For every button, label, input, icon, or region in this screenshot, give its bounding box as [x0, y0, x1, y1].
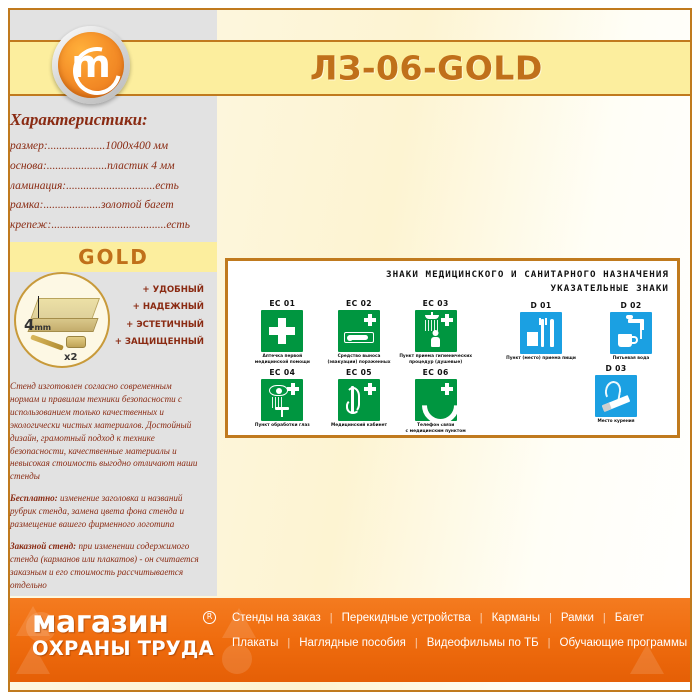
characteristics-row-size: размер:....................1000х400 мм [10, 137, 200, 157]
sign-code: EC 06 [397, 368, 474, 377]
feature-item-1: + УДОБНЫЙ [112, 282, 204, 299]
frame-illustration: 4mm x2 [14, 272, 110, 368]
sign-code: EC 01 [244, 299, 321, 308]
nav-separator: | [287, 637, 290, 649]
sign-label: Место курения [571, 419, 661, 425]
description-paragraph-1: Стенд изготовлен согласно современным но… [10, 380, 202, 483]
thickness-tick-icon [38, 296, 39, 318]
shower-icon [415, 310, 457, 352]
sign-code: D 01 [496, 301, 586, 310]
registered-mark-icon: R [203, 611, 216, 624]
sign-code: EC 05 [321, 368, 398, 377]
features-list: + УДОБНЫЙ + НАДЕЖНЫЙ + ЭСТЕТИЧНЫЙ + ЗАЩИ… [112, 282, 204, 351]
sign-label: Пункт обработки глаз [244, 423, 321, 429]
nav-separator: | [549, 612, 552, 624]
sign-d03: D 03 Место курения [571, 364, 661, 425]
page-title: ЛЗ-06-GOLD [310, 49, 543, 88]
sign-label: Пункт (место) приема пищи [496, 356, 586, 362]
sign-d02: D 02 Питьевая вода [586, 301, 676, 362]
sign-code: D 03 [571, 364, 661, 373]
sign-label: Телефон связи с медицинским пунктом [397, 423, 474, 434]
shop-logo-line1: магазин [32, 609, 222, 638]
sign-heading-line1: ЗНАКИ МЕДИЦИНСКОГО И САНИТАРНОГО НАЗНАЧЕ… [386, 268, 669, 282]
cigarette-icon [595, 375, 637, 417]
phone-handset-icon [415, 379, 457, 421]
gold-band-label: GOLD [78, 245, 149, 269]
stretcher-icon [338, 310, 380, 352]
site-footer: магазин ОХРАНЫ ТРУДА R Стенды на заказ |… [10, 598, 690, 682]
brand-logo[interactable]: m [52, 26, 130, 104]
thickness-value: 4mm [24, 316, 51, 334]
nav-link-flip-displays[interactable]: Перекидные устройства [342, 612, 471, 624]
logo-letter: m [58, 45, 124, 83]
blue-signs-grid: D 01 Пункт (место) приема пищи D 02 [496, 301, 676, 424]
product-page: GOLD ЛЗ-06-GOLD m Характеристики: размер… [0, 0, 700, 700]
description-paragraph-2: Бесплатно: изменение заголовка и названи… [10, 492, 202, 531]
sign-ec04: EC 04 Пункт обработки глаз [244, 368, 321, 434]
nav-link-pockets[interactable]: Карманы [492, 612, 540, 624]
footer-nav-row-1: Стенды на заказ | Перекидные устройства … [232, 612, 682, 624]
sign-ec05: EC 05 Медицинский кабинет [321, 368, 398, 434]
nav-link-safety-videos[interactable]: Видеофильмы по ТБ [427, 637, 539, 649]
sign-label: Медицинский кабинет [321, 423, 398, 429]
nav-link-visual-aids[interactable]: Наглядные пособия [299, 637, 406, 649]
sign-code: EC 03 [397, 299, 474, 308]
sign-d01: D 01 Пункт (место) приема пищи [496, 301, 586, 362]
characteristics-row-base: основа:.....................пластик 4 мм [10, 157, 200, 177]
cutlery-icon [520, 312, 562, 354]
eye-wash-icon [261, 379, 303, 421]
characteristics-block: Характеристики: размер:.................… [10, 110, 200, 236]
nav-separator: | [330, 612, 333, 624]
footer-nav: Стенды на заказ | Перекидные устройства … [232, 612, 682, 662]
nav-link-training[interactable]: Обучающие программы [560, 637, 688, 649]
characteristics-heading: Характеристики: [10, 110, 200, 130]
screw-icon [30, 334, 64, 350]
shop-logo[interactable]: магазин ОХРАНЫ ТРУДА R [32, 609, 222, 659]
footer-nav-row-2: Плакаты | Наглядные пособия | Видеофильм… [232, 637, 682, 649]
characteristics-row-lamination: ламинация:..............................… [10, 177, 200, 197]
sign-heading-line2: УКАЗАТЕЛЬНЫЕ ЗНАКИ [386, 282, 669, 296]
nav-separator: | [415, 637, 418, 649]
tap-water-icon [610, 312, 652, 354]
sign-label: Аптечка первой медицинской помощи [244, 354, 321, 365]
sign-ec03: EC 03 Пункт приема гигиенических процеду… [397, 299, 474, 365]
shop-logo-line2: ОХРАНЫ ТРУДА [32, 638, 222, 660]
nav-separator: | [548, 637, 551, 649]
nav-separator: | [603, 612, 606, 624]
sign-code: D 02 [586, 301, 676, 310]
characteristics-row-frame: рамка:....................золотой багет [10, 196, 200, 216]
nav-link-posters[interactable]: Плакаты [232, 637, 278, 649]
characteristics-row-mount: крепеж:.................................… [10, 216, 200, 236]
nav-link-custom-stands[interactable]: Стенды на заказ [232, 612, 321, 624]
logo-disc: m [58, 32, 124, 98]
nav-separator: | [480, 612, 483, 624]
first-aid-cross-icon [261, 310, 303, 352]
gold-band: GOLD [10, 242, 217, 272]
feature-item-3: + ЭСТЕТИЧНЫЙ [112, 317, 204, 334]
asclepius-rod-icon [338, 379, 380, 421]
screw-count-label: x2 [64, 352, 77, 363]
description-paragraph-3: Заказной стенд: при изменении содержимог… [10, 540, 202, 592]
nav-link-frames[interactable]: Рамки [561, 612, 594, 624]
custom-stand-label: Заказной стенд: [10, 541, 76, 551]
sign-ec01: EC 01 Аптечка первой медицинской помощи [244, 299, 321, 365]
sign-ec02: EC 02 Средство выноса (эвакуации) пораже… [321, 299, 398, 365]
sign-label: Средство выноса (эвакуации) пораженных [321, 354, 398, 365]
sign-code: EC 04 [244, 368, 321, 377]
sign-ec06: EC 06 Телефон связи с медицинским пункто… [397, 368, 474, 434]
sign-board-preview: ЗНАКИ МЕДИЦИНСКОГО И САНИТАРНОГО НАЗНАЧЕ… [225, 258, 680, 438]
nav-link-baguette[interactable]: Багет [615, 612, 644, 624]
mount-plate-icon [66, 336, 86, 348]
sign-code: EC 02 [321, 299, 398, 308]
free-label: Бесплатно: [10, 493, 58, 503]
green-signs-grid: EC 01 Аптечка первой медицинской помощи … [244, 299, 474, 434]
feature-item-2: + НАДЕЖНЫЙ [112, 299, 204, 316]
sign-label: Питьевая вода [586, 356, 676, 362]
sign-label: Пункт приема гигиенических процедур (душ… [397, 354, 474, 365]
sign-board-heading: ЗНАКИ МЕДИЦИНСКОГО И САНИТАРНОГО НАЗНАЧЕ… [386, 268, 669, 296]
feature-item-4: + ЗАЩИЩЕННЫЙ [112, 334, 204, 351]
